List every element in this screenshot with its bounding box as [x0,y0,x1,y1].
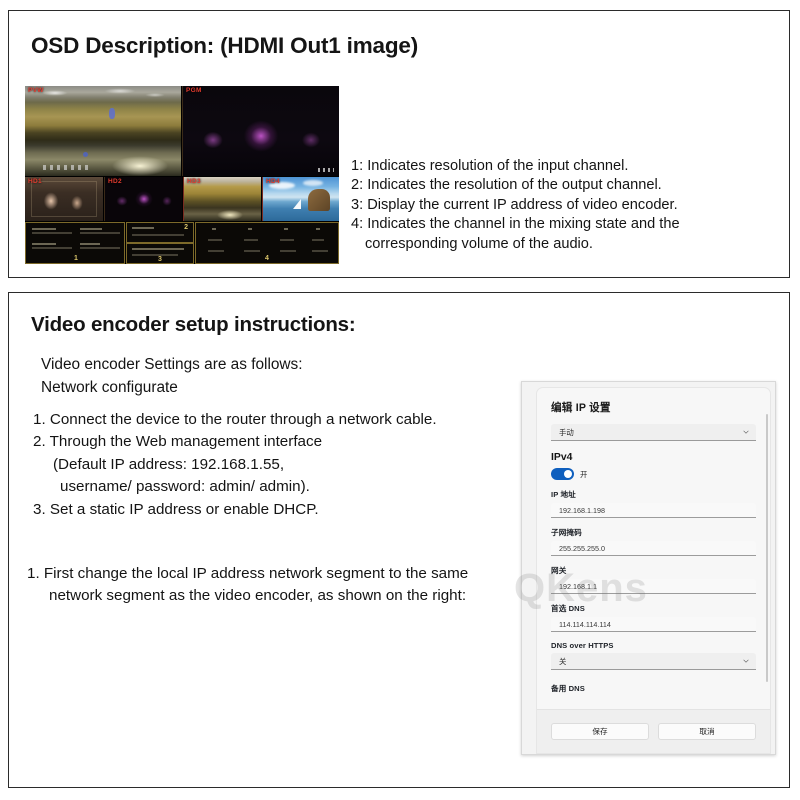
save-button[interactable]: 保存 [551,723,649,740]
ip-settings-body: 编辑 IP 设置 手动 IPv4 开 IP 地址 192.168.1.198 [537,388,770,694]
osd-panel-number: 2 [184,224,188,231]
step-item-1: 1. Connect the device to the router thro… [33,409,437,431]
final-note-line-2: network segment as the video encoder, as… [27,585,552,607]
osd-panel-number: 4 [265,255,269,262]
multiview-tile-pgm: PGM [182,86,339,176]
subnet-mask-input[interactable]: 255.255.255.0 [551,541,756,556]
legend-item-4-continued: corresponding volume of the audio. [351,235,771,254]
setup-intro: Video encoder Settings are as follows: N… [41,353,303,399]
tile-label-hd2: HD2 [108,178,122,185]
gateway-input[interactable]: 192.168.1.1 [551,579,756,594]
scene-object-blue [109,108,115,119]
dns-over-https-label: DNS over HTTPS [551,641,756,650]
tile-label-pgm: PGM [186,87,202,94]
page-title: OSD Description: (HDMI Out1 image) [31,33,418,59]
preferred-dns-input[interactable]: 114.114.114.114 [551,617,756,632]
legend-item-4: 4: Indicates the channel in the mixing s… [351,215,771,234]
ipv4-toggle-row[interactable]: 开 [551,468,756,480]
dialog-scrollbar[interactable] [766,414,769,682]
legend-item-2: 2: Indicates the resolution of the outpu… [351,176,771,195]
step-item-2: 2. Through the Web management interface [33,431,437,453]
ip-assignment-mode-value: 手动 [559,428,574,437]
osd-info-panel-4: 4 [195,222,339,264]
tile-label-hd1: HD1 [28,178,42,185]
legend-item-1: 1: Indicates resolution of the input cha… [351,157,771,176]
dns-over-https-select[interactable]: 关 [551,653,756,670]
osd-panel-number: 1 [74,255,78,262]
chevron-down-icon [743,658,749,664]
gateway-label: 网关 [551,565,756,576]
cancel-button[interactable]: 取消 [658,723,756,740]
setup-final-note: 1. First change the local IP address net… [27,563,552,608]
tile-inner-frame [31,181,97,217]
document-page: OSD Description: (HDMI Out1 image) PVW P… [0,0,800,800]
final-note-line-1: 1. First change the local IP address net… [27,563,552,585]
multiview-tile-hd4: HD4 [262,177,339,221]
subnet-mask-label: 子网掩码 [551,527,756,538]
dialog-title: 编辑 IP 设置 [551,400,756,415]
step-item-2-detail-a: (Default IP address: 192.168.1.55, [33,454,437,476]
legend-item-3: 3: Display the current IP address of vid… [351,196,771,215]
sky-clouds [25,86,181,102]
multiview-tile-pvw: PVW [25,86,181,176]
preferred-dns-label: 首选 DNS [551,603,756,614]
multiview-screenshot: PVW PGM HD1 HD2 HD3 HD4 [25,86,339,264]
multiview-tile-hd3: HD3 [183,177,261,221]
tile-label-hd4: HD4 [266,178,280,185]
sail-shape [293,199,301,209]
osd-legend-list: 1: Indicates resolution of the input cha… [351,157,771,254]
ip-assignment-mode-select[interactable]: 手动 [551,424,756,441]
intro-line-1: Video encoder Settings are as follows: [41,353,303,376]
scene-object-blue-small [83,152,88,157]
intro-line-2: Network configurate [41,376,303,399]
rock-shape [308,189,330,211]
osd-info-panel-1: 1 [25,222,125,264]
ipv4-toggle[interactable] [551,468,574,480]
ipv4-toggle-label: 开 [580,469,587,480]
dialog-footer: 保存 取消 [537,709,770,753]
toggle-knob [564,470,572,478]
ipv4-group-heading: IPv4 [551,452,756,463]
step-item-3: 3. Set a static IP address or enable DHC… [33,499,437,521]
chevron-down-icon [743,429,749,435]
section-title: Video encoder setup instructions: [31,313,356,337]
ip-address-label: IP 地址 [551,489,756,500]
setup-steps-list: 1. Connect the device to the router thro… [33,409,437,521]
alternate-dns-label: 备用 DNS [551,683,756,694]
ip-address-input[interactable]: 192.168.1.198 [551,503,756,518]
ip-settings-dialog-screenshot: 编辑 IP 设置 手动 IPv4 开 IP 地址 192.168.1.198 [521,381,776,755]
tile-label-hd3: HD3 [187,178,201,185]
osd-overlay-bar [318,168,334,172]
cloud-shape [303,180,323,186]
osd-info-panel-3: 3 [126,243,194,264]
step-item-2-detail-b: username/ password: admin/ admin). [33,476,437,498]
osd-info-panel-2: 2 [126,222,194,243]
osd-overlay-bar [43,165,91,170]
osd-description-section: OSD Description: (HDMI Out1 image) PVW P… [8,10,790,278]
dns-over-https-value: 关 [559,657,566,666]
tile-label-pvw: PVW [28,87,44,94]
multiview-tile-hd2: HD2 [104,177,182,221]
multiview-tile-hd1: HD1 [25,177,103,221]
ip-settings-card: 编辑 IP 设置 手动 IPv4 开 IP 地址 192.168.1.198 [536,387,771,754]
osd-panel-number: 3 [158,256,162,263]
